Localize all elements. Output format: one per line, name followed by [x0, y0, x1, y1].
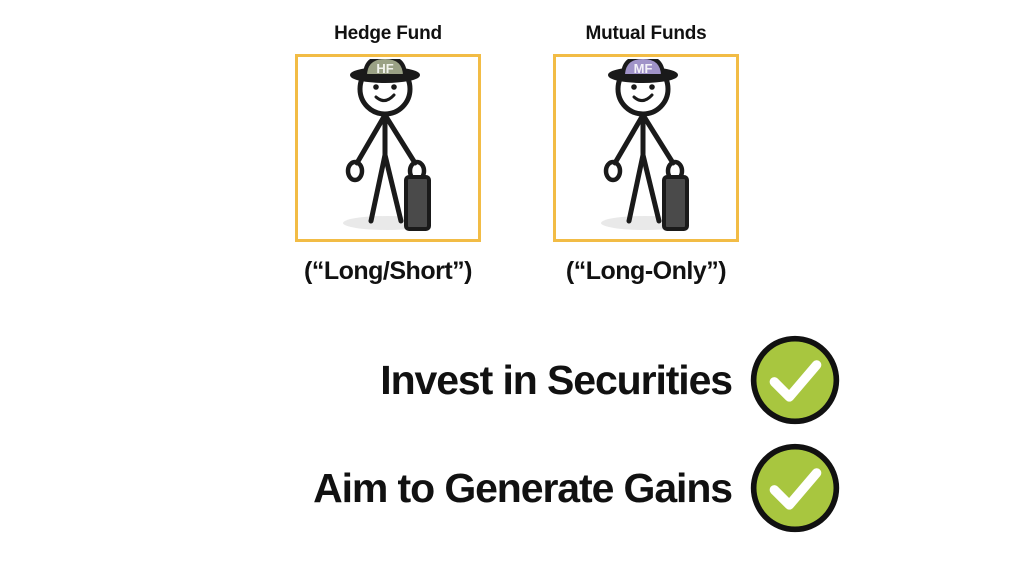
stick-figure-businessperson-mutual-funds: MF	[581, 59, 711, 237]
hat-letters-hedge-fund: HF	[376, 61, 393, 76]
statement-label-aim-to-generate-gains: Aim to Generate Gains	[313, 464, 732, 512]
check-circle-icon-aim-to-generate-gains	[748, 441, 842, 535]
fund-title-mutual-funds: Mutual Funds	[546, 22, 746, 46]
statement-label-invest-in-securities: Invest in Securities	[380, 356, 732, 404]
statements-section: Invest in Securities Aim to Generate Gai…	[0, 326, 1024, 542]
statement-row-invest-in-securities: Invest in Securities	[0, 326, 1024, 434]
fund-column-mutual-funds: Mutual Funds MF (“Long-Only	[546, 22, 746, 286]
fund-title-hedge-fund: Hedge Fund	[288, 22, 488, 46]
stick-figure-businessperson-hedge-fund: HF	[323, 59, 453, 237]
check-circle-icon-invest-in-securities	[748, 333, 842, 427]
fund-caption-hedge-fund: (“Long/Short”)	[288, 256, 488, 286]
fund-column-hedge-fund: Hedge Fund	[288, 22, 488, 286]
hat-letters-mutual-funds: MF	[634, 61, 653, 76]
fund-frame-hedge-fund: HF	[295, 54, 481, 242]
statement-row-aim-to-generate-gains: Aim to Generate Gains	[0, 434, 1024, 542]
fund-frame-mutual-funds: MF	[553, 54, 739, 242]
fund-caption-mutual-funds: (“Long-Only”)	[546, 256, 746, 286]
fund-comparison-section: Hedge Fund	[0, 0, 1024, 300]
